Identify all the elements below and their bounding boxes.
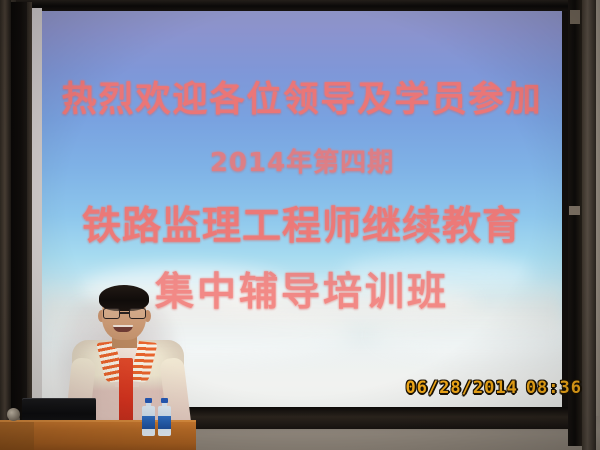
timestamp-time: 08:36 [526, 378, 582, 398]
podium-side-panel [0, 422, 34, 450]
glasses-bridge [120, 312, 129, 314]
screen-frame-top-bar [16, 0, 578, 11]
glasses-lens-right [129, 308, 146, 319]
glasses-icon [103, 308, 146, 319]
podium-knob-icon [7, 408, 20, 421]
camera-timestamp: 06/28/201408:36 [405, 378, 582, 398]
screen-left-margin [32, 8, 42, 408]
bottle-label [142, 416, 155, 429]
bottle-label [158, 416, 171, 429]
left-frame-rail-inner [11, 2, 27, 440]
right-frame-bracket [570, 10, 580, 24]
glasses-lens-left [103, 308, 120, 319]
water-bottle [158, 398, 171, 436]
right-frame-bracket [569, 206, 580, 215]
left-frame-rail-outer [0, 0, 11, 450]
photograph: 热烈欢迎各位领导及学员参加 2014年第四期 铁路监理工程师继续教育 集中辅导培… [0, 0, 600, 450]
timestamp-date: 06/28/2014 [405, 378, 517, 398]
right-frame-rail-outer [582, 0, 596, 450]
water-bottle [142, 398, 155, 436]
